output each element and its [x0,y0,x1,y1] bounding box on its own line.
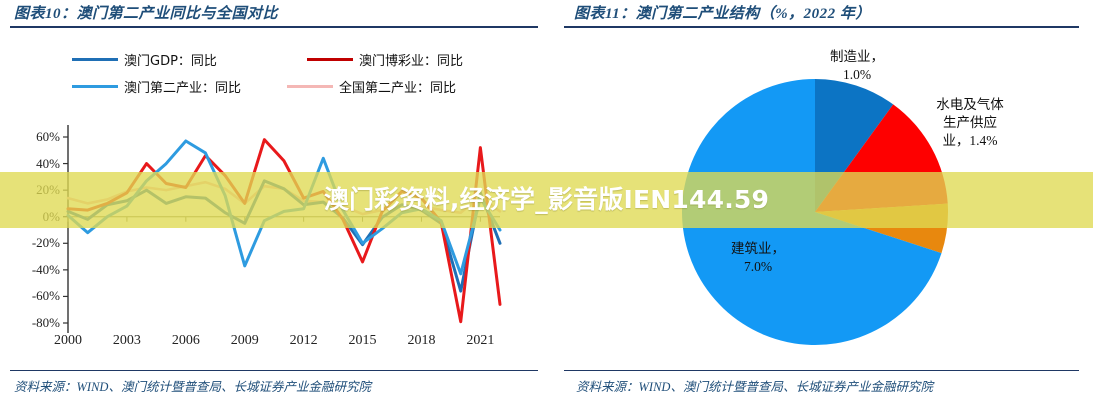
legend-label-macau-gaming: 澳门博彩业：同比 [359,50,463,69]
legend-item-macau-gaming: 澳门博彩业：同比 [307,50,492,69]
line-chart-svg [0,104,548,366]
pie-label-manufacturing: 制造业， 1.0% [812,48,902,84]
pie-chart [681,78,949,346]
pie-label-utilities: 水电及气体 生产供应 业，1.4% [920,96,1020,150]
legend-swatch-macau-gdp [72,58,118,62]
y-tick-label: -40% [14,262,60,278]
screenshot-root: 图表10：澳门第二产业同比与全国对比 澳门GDP：同比 澳门博彩业：同比 澳门第… [0,0,1093,400]
x-tick-label: 2021 [453,333,507,349]
y-tick-label: -60% [14,288,60,304]
pie-chart-svg [681,78,949,346]
legend-row-1: 澳门GDP：同比 澳门博彩业：同比 [72,46,492,73]
line-chart [0,104,548,366]
legend-swatch-macau-gaming [307,58,353,62]
y-tick-label: -20% [14,235,60,251]
line-chart-legend: 澳门GDP：同比 澳门博彩业：同比 澳门第二产业：同比 全国第二产业：同比 [72,46,492,100]
legend-label-macau-gdp: 澳门GDP：同比 [124,50,217,69]
y-tick-label: -80% [14,315,60,331]
x-tick-label: 2009 [218,333,272,349]
y-tick-label: 40% [14,156,60,172]
legend-item-macau-gdp: 澳门GDP：同比 [72,50,307,69]
left-title-divider [10,26,538,28]
y-tick-label: 60% [14,129,60,145]
legend-row-2: 澳门第二产业：同比 全国第二产业：同比 [72,73,492,100]
right-source-note: 资料来源：WIND、澳门统计暨普查局、长城证券产业金融研究院 [576,376,1087,395]
legend-label-macau-secondary: 澳门第二产业：同比 [124,77,241,96]
legend-label-national-secondary: 全国第二产业：同比 [339,77,456,96]
left-chart-panel: 图表10：澳门第二产业同比与全国对比 澳门GDP：同比 澳门博彩业：同比 澳门第… [0,0,548,400]
right-chart-title: 图表11：澳门第二产业结构（%，2022 年） [574,2,1083,24]
pie-label-construction: 建筑业， 7.0% [718,240,798,276]
x-tick-label: 2000 [41,333,95,349]
y-tick-label: 20% [14,182,60,198]
x-tick-label: 2012 [277,333,331,349]
x-tick-label: 2015 [336,333,390,349]
left-footer-divider [10,370,538,371]
x-tick-label: 2006 [159,333,213,349]
y-tick-label: 0% [14,209,60,225]
right-footer-divider [564,370,1079,371]
left-chart-title: 图表10：澳门第二产业同比与全国对比 [14,2,538,24]
x-tick-label: 2018 [394,333,448,349]
legend-item-macau-secondary: 澳门第二产业：同比 [72,77,287,96]
x-tick-label: 2003 [100,333,154,349]
legend-swatch-macau-secondary [72,85,118,89]
left-source-note: 资料来源：WIND、澳门统计暨普查局、长城证券产业金融研究院 [14,376,542,395]
legend-swatch-national-secondary [287,85,333,89]
legend-item-national-secondary: 全国第二产业：同比 [287,77,477,96]
right-title-divider [564,26,1079,28]
